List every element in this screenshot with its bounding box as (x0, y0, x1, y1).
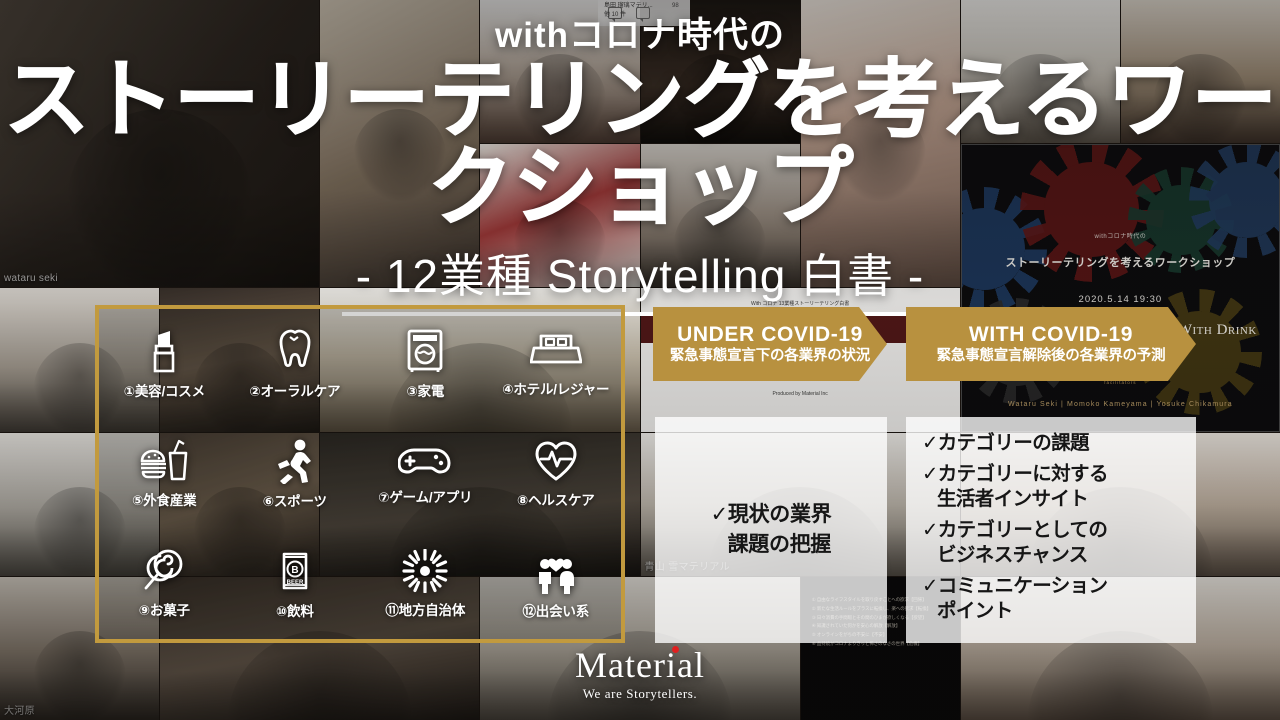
sunburst-icon (401, 549, 449, 593)
checklist-item: ✓コミュニケーションポイント (922, 574, 1186, 624)
lollipop-icon (141, 549, 187, 593)
check-icon: ✓ (922, 432, 938, 454)
participant-tile[interactable] (801, 0, 960, 287)
industry-label: ⑩飲料 (276, 600, 314, 620)
banner-title: WITH COVID-19 (969, 323, 1133, 347)
industry-item-foodservice[interactable]: ⑤外食産業 (99, 419, 230, 529)
checklist-item-label: カテゴリーに対する生活者インサイト (937, 463, 1108, 510)
industry-label: ④ホテル/レジャー (502, 378, 609, 398)
industry-item-appliance[interactable]: ③家電 (360, 309, 491, 419)
participant-video (1121, 0, 1280, 143)
checklist-item: ✓カテゴリーに対する生活者インサイト (922, 462, 1186, 512)
check-icon: ✓ (922, 519, 938, 541)
participant-tile[interactable] (1121, 0, 1280, 143)
industry-item-sports[interactable]: ⑥スポーツ (230, 419, 361, 529)
checklist-item: ✓カテゴリーとしてのビジネスチャンス (922, 518, 1186, 568)
industry-grid: ①美容/コスメ ②オーラルケア ③家電 (95, 305, 625, 643)
participant-video (0, 0, 319, 287)
industry-item-hotel[interactable]: ④ホテル/レジャー (491, 309, 622, 419)
industry-label: ②オーラルケア (249, 380, 340, 400)
participant-tile[interactable] (961, 0, 1120, 143)
zoom-participant-count: 98 (672, 3, 679, 9)
participant-tile[interactable]: wataru seki (0, 0, 319, 287)
banner-under-covid[interactable]: UNDER COVID-19 緊急事態宣言下の各業界の状況 (653, 307, 887, 381)
zoom-host-label: 島田 瑠璃マテリ... 他 10 件 (604, 2, 653, 20)
industry-item-snack[interactable]: ⑨お菓子 (99, 529, 230, 639)
outcome-line-2: 課題の把握 (728, 533, 832, 556)
participant-tile[interactable] (480, 144, 639, 287)
banner-subtitle: 緊急事態宣言解除後の各業界の予測 (937, 348, 1166, 365)
runner-icon (274, 438, 316, 484)
shared-screen-tile[interactable]: withコロナ時代の ストーリーテリングを考えるワークショップ 2020.5.1… (961, 144, 1280, 431)
outcome-card-deliverables[interactable]: ✓カテゴリーの課題 ✓カテゴリーに対する生活者インサイト ✓カテゴリーとしてのビ… (906, 417, 1196, 643)
banner-title: UNDER COVID-19 (677, 323, 863, 347)
shared-slide-eyebrow: withコロナ時代の (962, 231, 1279, 240)
participant-name: wataru seki (4, 273, 58, 284)
participant-video (641, 144, 800, 287)
shared-slide-virus: withコロナ時代の ストーリーテリングを考えるワークショップ 2020.5.1… (961, 144, 1280, 431)
svg-text:BEER: BEER (286, 580, 303, 586)
banner-subtitle: 緊急事態宣言下の各業界の状況 (670, 348, 870, 365)
participant-video (320, 0, 479, 287)
shared-slide-datetime: 2020.5.14 19:30 (962, 294, 1279, 305)
participant-tile[interactable] (320, 0, 479, 287)
outcome-line-1: 現状の業界 (728, 503, 832, 526)
industry-label: ⑨お菓子 (139, 599, 190, 619)
burger-drink-icon (138, 439, 190, 483)
gamepad-icon (398, 442, 452, 480)
checklist-item-label: カテゴリーとしてのビジネスチャンス (937, 519, 1107, 566)
industry-item-beauty[interactable]: ①美容/コスメ (99, 309, 230, 419)
participant-tile[interactable] (641, 144, 800, 287)
heart-pulse-icon (533, 439, 579, 483)
participant-name: 大河原 (4, 702, 35, 717)
checklist-item-label: カテゴリーの課題 (938, 432, 1089, 454)
industry-label: ⑤外食産業 (132, 489, 196, 509)
industry-label: ⑥スポーツ (263, 490, 327, 510)
bed-icon (530, 330, 582, 372)
outcome-card-left-text: ✓現状の業界 課題の把握 (711, 500, 832, 560)
outcome-card-current-state[interactable]: ✓現状の業界 課題の把握 (655, 417, 887, 643)
check-icon: ✓ (922, 463, 938, 485)
checklist-item: ✓カテゴリーの課題 (922, 431, 1186, 456)
tooth-icon (275, 328, 315, 374)
industry-label: ③家電 (406, 380, 444, 400)
participant-video (961, 0, 1120, 143)
checklist-item-label: コミュニケーションポイント (937, 575, 1107, 622)
svg-text:B: B (291, 565, 298, 576)
participant-video (480, 144, 639, 287)
industry-item-game[interactable]: ⑦ゲーム/アプリ (360, 419, 491, 529)
industry-item-municipality[interactable]: ⑪地方自治体 (360, 529, 491, 639)
slide-canvas: wataru seki (0, 0, 1280, 720)
banner-with-covid[interactable]: WITH COVID-19 緊急事態宣言解除後の各業界の予測 (906, 307, 1196, 381)
beer-can-icon: B BEER (278, 548, 312, 594)
industry-label: ⑧ヘルスケア (517, 489, 595, 509)
shared-slide-title: ストーリーテリングを考えるワークショップ (962, 254, 1279, 270)
participant-video (801, 0, 960, 287)
industry-item-oralcare[interactable]: ②オーラルケア (230, 309, 361, 419)
shared-slide-facilitators: Wataru Seki | Momoko Kameyama | Yosuke C… (962, 401, 1279, 408)
check-icon: ✓ (711, 503, 728, 526)
industry-label: ⑦ゲーム/アプリ (378, 486, 472, 506)
industry-label: ⑪地方自治体 (385, 599, 465, 619)
industry-item-dating[interactable]: ⑫出会い系 (491, 529, 622, 639)
couple-heart-icon (533, 548, 579, 594)
check-icon: ✓ (922, 575, 938, 597)
washing-machine-icon (404, 328, 446, 374)
industry-label: ①美容/コスメ (124, 380, 205, 400)
lipstick-icon (147, 328, 181, 374)
industry-label: ⑫出会い系 (523, 600, 590, 620)
industry-item-beverage[interactable]: B BEER ⑩飲料 (230, 529, 361, 639)
industry-item-healthcare[interactable]: ⑧ヘルスケア (491, 419, 622, 529)
